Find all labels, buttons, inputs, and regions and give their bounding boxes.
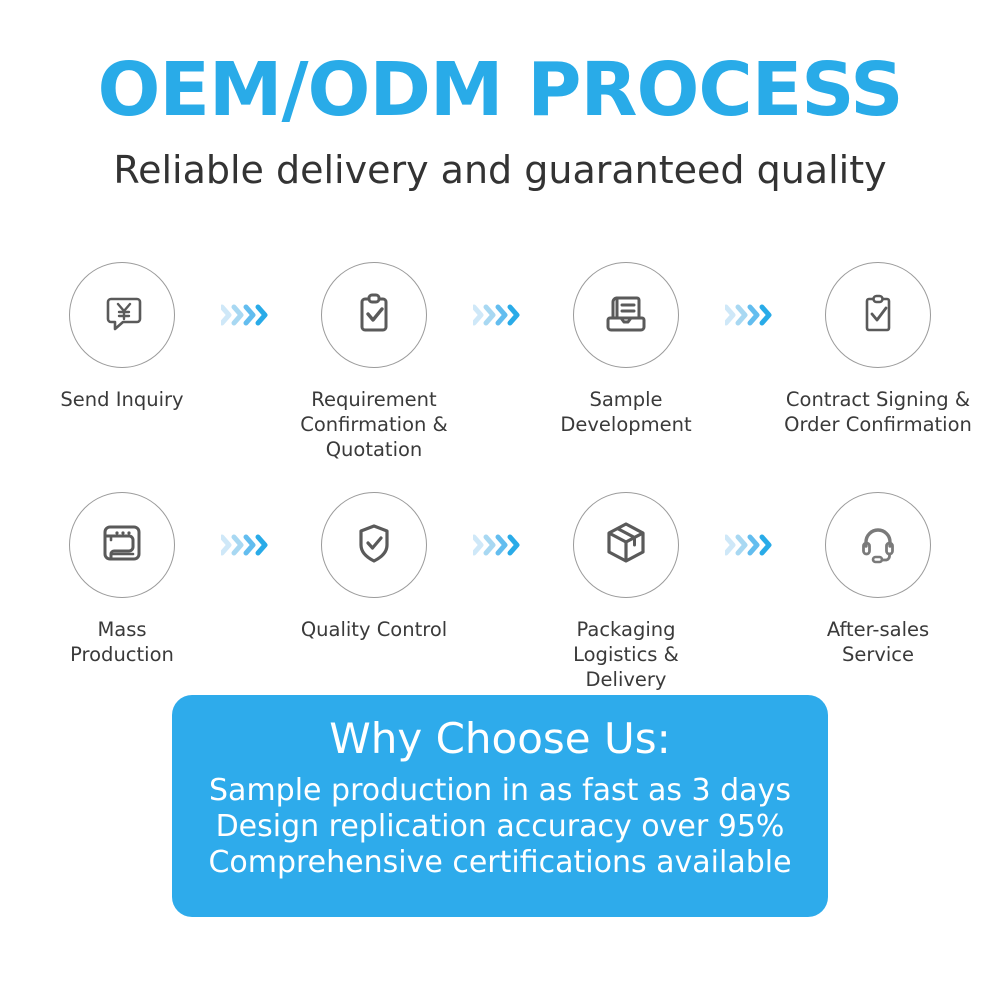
step-icon-circle bbox=[321, 262, 427, 368]
banner-line: Sample production in as fast as 3 days bbox=[209, 773, 791, 809]
step-label: Packaging Logistics & Delivery bbox=[531, 617, 721, 692]
step-icon-circle bbox=[573, 262, 679, 368]
clipboard-check-icon bbox=[346, 285, 402, 345]
step-icon-circle bbox=[825, 492, 931, 598]
page-title: OEM/ODM PROCESS bbox=[0, 52, 1000, 130]
page-subtitle: Reliable delivery and guaranteed quality bbox=[0, 148, 1000, 194]
step-icon-circle bbox=[825, 262, 931, 368]
package-box-icon bbox=[597, 514, 655, 576]
chevron-arrows-icon bbox=[469, 262, 531, 368]
process-step-send-inquiry[interactable]: Send Inquiry bbox=[27, 262, 217, 412]
banner-line: Comprehensive certifications available bbox=[208, 845, 791, 881]
step-label: Quality Control bbox=[301, 617, 447, 642]
document-tray-icon bbox=[598, 285, 654, 345]
process-step-contract-signing[interactable]: Contract Signing & Order Confirmation bbox=[783, 262, 973, 437]
banner-title: Why Choose Us: bbox=[329, 713, 671, 765]
chevron-arrows-icon bbox=[469, 492, 531, 598]
process-step-after-sales-service[interactable]: After-sales Service bbox=[783, 492, 973, 667]
headset-icon bbox=[850, 515, 906, 575]
process-step-quality-control[interactable]: Quality Control bbox=[279, 492, 469, 642]
why-choose-us-banner: Why Choose Us: Sample production in as f… bbox=[172, 695, 828, 917]
chevron-arrows-icon bbox=[721, 262, 783, 368]
process-step-packaging-logistics[interactable]: Packaging Logistics & Delivery bbox=[531, 492, 721, 692]
process-step-mass-production[interactable]: Mass Production bbox=[27, 492, 217, 667]
step-label: Mass Production bbox=[70, 617, 174, 667]
chat-bubble-yen-icon bbox=[94, 285, 150, 345]
step-icon-circle bbox=[573, 492, 679, 598]
process-row-2: Mass Production Quality Control bbox=[0, 492, 1000, 692]
chevron-arrows-icon bbox=[217, 262, 279, 368]
header: OEM/ODM PROCESS Reliable delivery and gu… bbox=[0, 52, 1000, 193]
step-label: Sample Development bbox=[560, 387, 691, 437]
process-step-requirement-confirmation[interactable]: Requirement Confirmation & Quotation bbox=[279, 262, 469, 462]
banner-lines: Sample production in as fast as 3 days D… bbox=[208, 773, 791, 881]
step-label: Contract Signing & Order Confirmation bbox=[784, 387, 972, 437]
infographic-page: OEM/ODM PROCESS Reliable delivery and gu… bbox=[0, 0, 1000, 1000]
banner-line: Design replication accuracy over 95% bbox=[216, 809, 785, 845]
step-label: Requirement Confirmation & Quotation bbox=[300, 387, 448, 462]
process-step-sample-development[interactable]: Sample Development bbox=[531, 262, 721, 437]
step-icon-circle bbox=[321, 492, 427, 598]
shield-check-icon bbox=[346, 515, 402, 575]
step-label: After-sales Service bbox=[827, 617, 929, 667]
step-icon-circle bbox=[69, 492, 175, 598]
chevron-arrows-icon bbox=[217, 492, 279, 598]
step-label: Send Inquiry bbox=[60, 387, 183, 412]
clipboard-check-thin-icon bbox=[850, 285, 906, 345]
chevron-arrows-icon bbox=[721, 492, 783, 598]
step-icon-circle bbox=[69, 262, 175, 368]
sewing-machine-icon bbox=[93, 514, 151, 576]
process-row-1: Send Inquiry Requirement Conf bbox=[0, 262, 1000, 462]
